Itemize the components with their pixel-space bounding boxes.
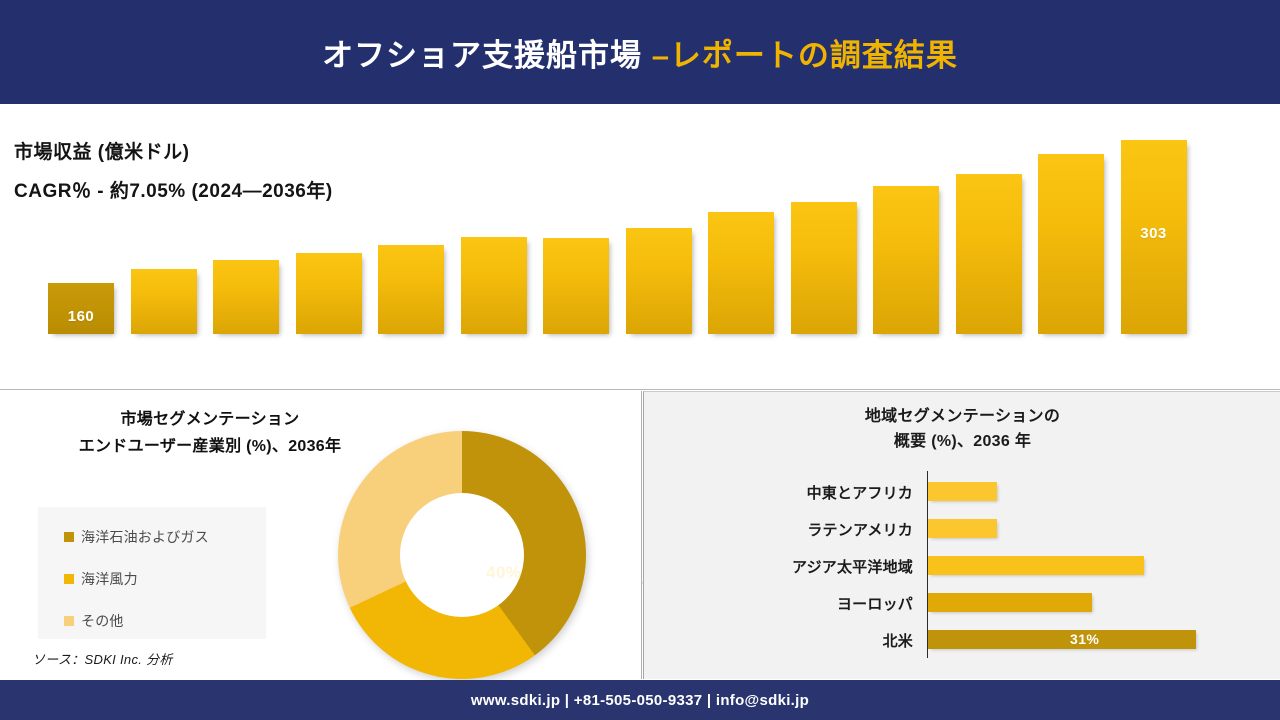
revenue-bar xyxy=(873,186,939,334)
legend-swatch-icon-1 xyxy=(64,574,74,584)
revenue-bar xyxy=(708,212,774,334)
legend-swatch-icon-0 xyxy=(64,532,74,542)
region-title-line2: 概要 (%)、2036 年 xyxy=(644,429,1280,454)
footer-contact-text: www.sdki.jp | +81-505-050-9337 | info@sd… xyxy=(471,692,809,709)
legend-label-0: 海洋石油およびガス xyxy=(81,527,209,547)
region-bar-row: ヨーロッパ xyxy=(644,587,1280,619)
revenue-bar xyxy=(626,228,692,334)
region-bar-label: アジア太平洋地域 xyxy=(792,556,913,577)
footer-banner: www.sdki.jp | +81-505-050-9337 | info@sd… xyxy=(0,680,1280,720)
revenue-bar xyxy=(956,174,1022,334)
donut-center-label: 40% xyxy=(486,563,522,583)
revenue-bar-value: 160 xyxy=(48,308,114,325)
region-bar xyxy=(928,556,1144,575)
legend-label-2: その他 xyxy=(81,611,124,631)
region-bar-row: アジア太平洋地域 xyxy=(644,550,1280,582)
region-bar-label: ラテンアメリカ xyxy=(807,519,913,540)
region-bar-label: 北米 xyxy=(883,630,913,651)
page-title-accent: –レポートの調査結果 xyxy=(652,38,958,73)
region-bar-label: 中東とアフリカ xyxy=(807,482,913,503)
region-bar-label: ヨーロッパ xyxy=(837,593,913,614)
revenue-bar xyxy=(791,202,857,334)
revenue-bar xyxy=(1038,154,1104,334)
region-panel: 地域セグメンテーションの 概要 (%)、2036 年 中東とアフリカラテンアメリ… xyxy=(643,391,1280,679)
header-banner: オフショア支援船市場 –レポートの調査結果 xyxy=(0,0,1280,104)
region-title: 地域セグメンテーションの 概要 (%)、2036 年 xyxy=(644,404,1280,454)
revenue-bar xyxy=(461,237,527,334)
segmentation-panel: 市場セグメンテーション エンドユーザー産業別 (%)、2036年 海洋石油および… xyxy=(0,391,642,679)
region-bar xyxy=(928,519,997,538)
region-bar-row: 北米31% xyxy=(644,624,1280,656)
region-bar xyxy=(928,630,1196,649)
legend-item-2: その他 xyxy=(64,611,124,631)
revenue-bar xyxy=(543,238,609,334)
page-title-main: オフショア支援船市場 xyxy=(322,38,652,73)
infographic-root: オフショア支援船市場 –レポートの調査結果 市場収益 (億米ドル) CAGR％ … xyxy=(0,0,1280,720)
revenue-bar xyxy=(213,260,279,334)
legend-swatch-icon-2 xyxy=(64,616,74,626)
segmentation-title-line1: 市場セグメンテーション xyxy=(0,406,420,433)
revenue-bar xyxy=(296,253,362,334)
revenue-bar-plot: 1602023年2024年2025年2026年2027年2028年2029年20… xyxy=(40,104,1240,390)
revenue-bar xyxy=(131,269,197,334)
region-bar xyxy=(928,593,1092,612)
region-bar xyxy=(928,482,997,501)
region-bar-value: 31% xyxy=(1070,631,1099,647)
region-title-line1: 地域セグメンテーションの xyxy=(644,404,1280,429)
segmentation-legend: 海洋石油およびガス 海洋風力 その他 xyxy=(38,507,266,639)
source-note: ソース：SDKI Inc. 分析 xyxy=(32,649,173,668)
legend-label-1: 海洋風力 xyxy=(81,569,138,589)
page-title: オフショア支援船市場 –レポートの調査結果 xyxy=(322,30,958,75)
region-bar-row: ラテンアメリカ xyxy=(644,513,1280,545)
legend-item-1: 海洋風力 xyxy=(64,569,138,589)
donut-hole xyxy=(400,493,524,617)
market-revenue-panel: 市場収益 (億米ドル) CAGR％ - 約7.05% (2024―2036年) … xyxy=(0,104,1280,390)
revenue-bar-value: 303 xyxy=(1121,225,1187,242)
segmentation-donut-chart: 40% xyxy=(338,431,586,679)
revenue-bar xyxy=(378,245,444,334)
legend-item-0: 海洋石油およびガス xyxy=(64,527,209,547)
region-bar-row: 中東とアフリカ xyxy=(644,476,1280,508)
